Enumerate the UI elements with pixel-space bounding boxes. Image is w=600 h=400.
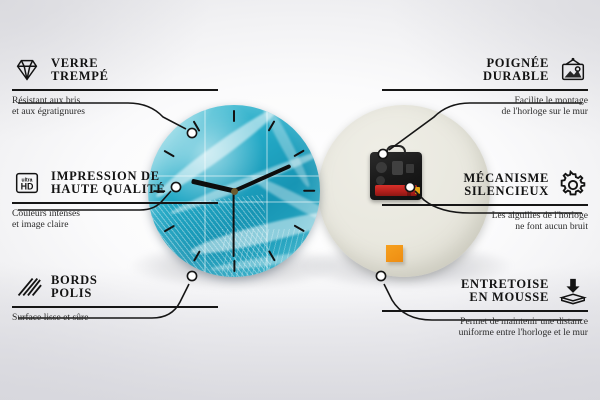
polished-edges-icon: [12, 272, 42, 302]
feature-header: ENTRETOISE EN MOUSSE: [382, 276, 588, 306]
feature-title: POIGNÉE DURABLE: [483, 57, 549, 84]
feature-header: ultra HD IMPRESSION DE HAUTE QUALITÉ: [12, 168, 218, 198]
feature-divider: [382, 310, 588, 312]
feature-title: MÉCANISME SILENCIEUX: [464, 172, 549, 199]
feature-divider: [12, 306, 218, 308]
feature-title: ENTRETOISE EN MOUSSE: [461, 278, 549, 305]
feature-description: Résistant aux bris et aux égratignures: [12, 95, 218, 118]
diamond-icon: [12, 55, 42, 85]
ultra-hd-badge-icon: ultra HD: [12, 168, 42, 198]
feature-description: Les aiguilles de l'horloge ne font aucun…: [382, 210, 588, 233]
gear-icon: [558, 170, 588, 200]
feature-header: VERRE TREMPÉ: [12, 55, 218, 85]
feature-divider: [382, 89, 588, 91]
feature-verre-trempe: VERRE TREMPÉ Résistant aux bris et aux é…: [12, 55, 218, 117]
feature-divider: [12, 202, 218, 204]
arrow-down-pad-icon: [558, 276, 588, 306]
feature-entretoise-en-mousse: ENTRETOISE EN MOUSSE Permet de maintenir…: [382, 276, 588, 338]
feature-title: IMPRESSION DE HAUTE QUALITÉ: [51, 170, 165, 197]
feature-title: BORDS POLIS: [51, 274, 98, 301]
feature-divider: [12, 89, 218, 91]
feature-description: Permet de maintenir une distance uniform…: [382, 316, 588, 339]
feature-header: POIGNÉE DURABLE: [382, 55, 588, 85]
connector-dot-poignee: [378, 149, 387, 158]
feature-title: VERRE TREMPÉ: [51, 57, 109, 84]
feature-impression-haute-qualite: ultra HD IMPRESSION DE HAUTE QUALITÉ Cou…: [12, 168, 218, 230]
feature-description: Facilite le montage de l'horloge sur le …: [382, 95, 588, 118]
feature-header: BORDS POLIS: [12, 272, 218, 302]
infographic-canvas: VERRE TREMPÉ Résistant aux bris et aux é…: [0, 0, 600, 400]
feature-description: Surface lisse et sûre: [12, 312, 218, 323]
feature-header: MÉCANISME SILENCIEUX: [382, 170, 588, 200]
feature-bords-polis: BORDS POLIS Surface lisse et sûre: [12, 272, 218, 323]
feature-poignee-durable: POIGNÉE DURABLE Facilite le montage de l…: [382, 55, 588, 117]
feature-mecanisme-silencieux: MÉCANISME SILENCIEUX Les aiguilles de l'…: [382, 170, 588, 232]
picture-frame-hanger-icon: [558, 55, 588, 85]
feature-description: Couleurs intenses et image claire: [12, 208, 218, 231]
connector-dot-verre: [187, 128, 196, 137]
svg-text:HD: HD: [21, 182, 34, 192]
feature-divider: [382, 204, 588, 206]
